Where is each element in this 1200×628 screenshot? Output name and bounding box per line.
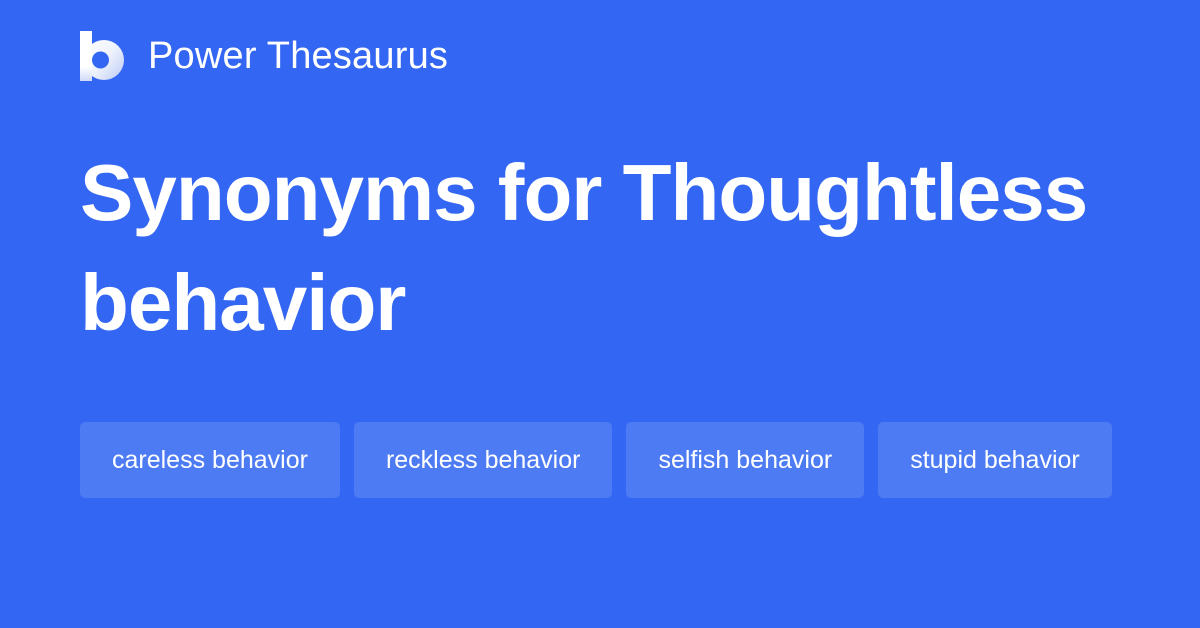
page-root: power thesaurus Synonyms for Thoughtless… — [0, 0, 1200, 628]
synonym-chip-list: careless behavior reckless behavior self… — [80, 422, 1130, 498]
synonym-chip[interactable]: selfish behavior — [626, 422, 864, 498]
brand-logo[interactable]: power thesaurus — [80, 28, 448, 84]
synonym-chip[interactable]: reckless behavior — [354, 422, 613, 498]
synonym-chip[interactable]: stupid behavior — [878, 422, 1112, 498]
page-title: Synonyms for Thoughtless behavior — [80, 138, 1150, 358]
synonym-chip[interactable]: careless behavior — [80, 422, 340, 498]
power-thesaurus-b-logo-icon — [80, 31, 126, 81]
brand-name-label: power thesaurus — [148, 37, 448, 75]
